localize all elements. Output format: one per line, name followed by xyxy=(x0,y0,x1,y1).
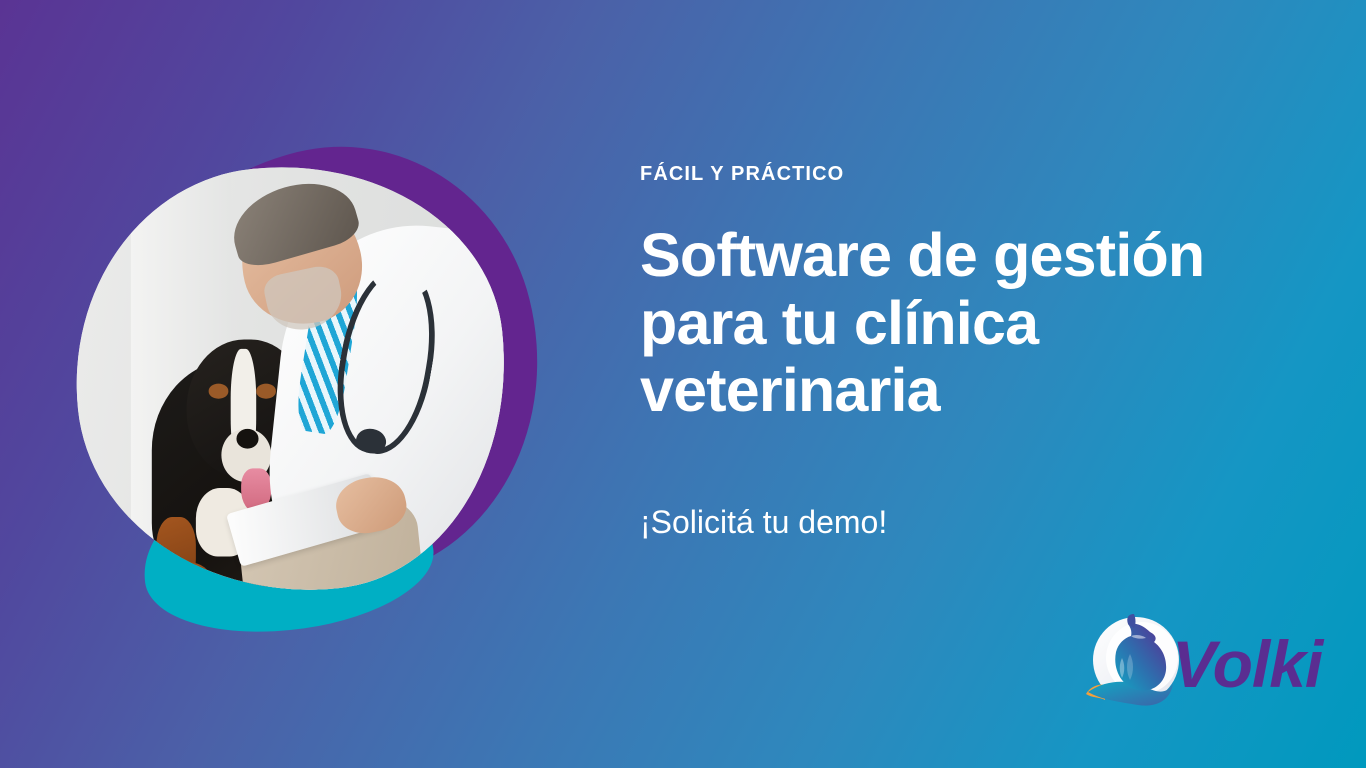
page-title: Software de gestión para tu clínica vete… xyxy=(640,222,1320,425)
headline-line-1: Software de gestión xyxy=(640,222,1320,290)
hero-photo xyxy=(55,145,527,614)
hero-photo-content xyxy=(55,145,527,614)
brand-logo[interactable]: Volki xyxy=(1078,608,1340,720)
cta-text[interactable]: ¡Solicitá tu demo! xyxy=(640,503,1320,541)
promo-banner: FÁCIL Y PRÁCTICO Software de gestión par… xyxy=(0,0,1366,768)
eyebrow-text: FÁCIL Y PRÁCTICO xyxy=(640,162,1320,186)
headline-line-3: veterinaria xyxy=(640,357,1320,425)
headline-line-2: para tu clínica xyxy=(640,290,1320,358)
photo-dog-nose xyxy=(236,428,258,448)
photo-dog-brow-right xyxy=(256,384,276,399)
logo-wordmark: Volki xyxy=(1172,631,1322,697)
copy-block: FÁCIL Y PRÁCTICO Software de gestión par… xyxy=(640,162,1320,542)
photo-dog-paw xyxy=(161,562,211,602)
